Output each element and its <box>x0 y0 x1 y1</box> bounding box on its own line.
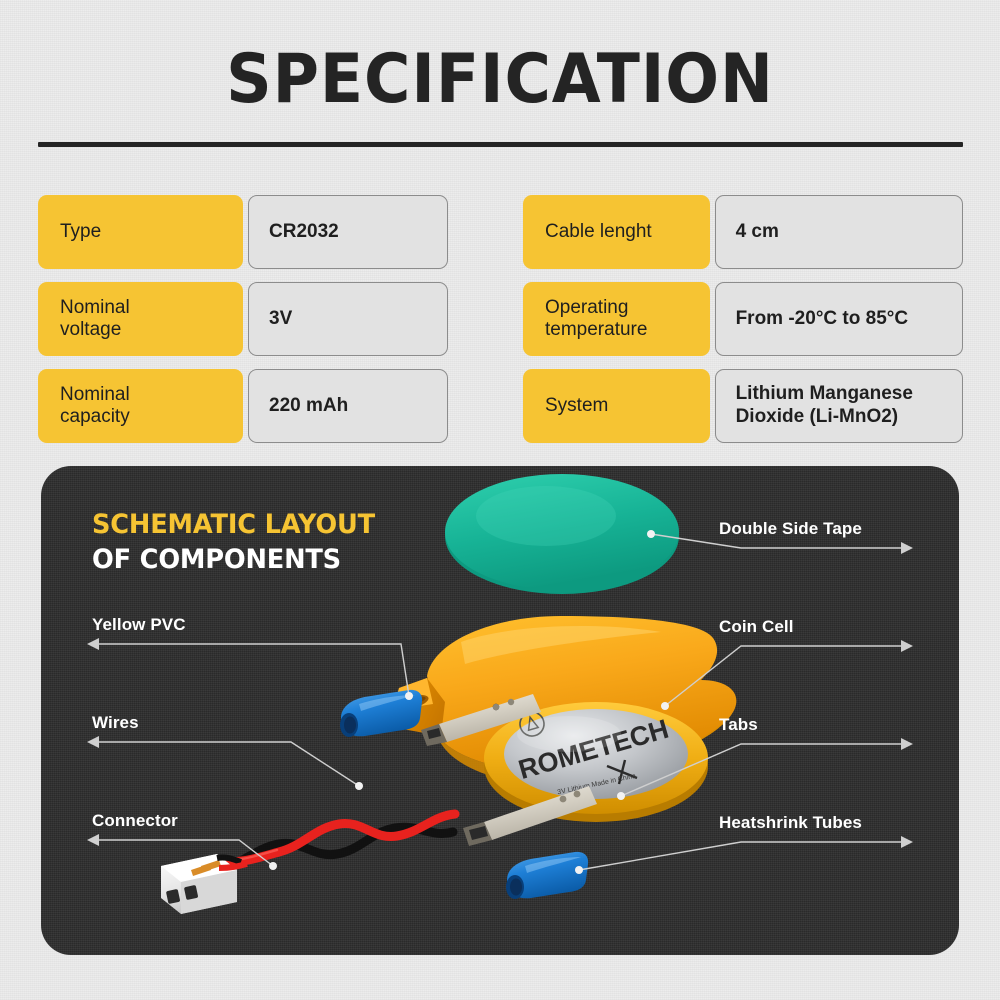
component-wires <box>219 814 455 869</box>
component-coin-cell: ROMETECH 3V Lithium Made in China <box>484 702 708 822</box>
spec-value-operating-temperature: From -20°C to 85°C <box>715 282 963 356</box>
spec-label-type: Type <box>38 195 243 269</box>
callout-label-connector: Connector <box>92 811 178 831</box>
specification-page: SPECIFICATION Type CR2032 Nominalvoltage… <box>0 0 1000 1000</box>
component-connector <box>161 854 247 914</box>
table-row: Nominalcapacity 220 mAh <box>38 369 478 443</box>
component-yellow-pvc <box>393 616 736 784</box>
spec-value-system: Lithium ManganeseDioxide (Li-MnO2) <box>715 369 963 443</box>
spec-value-cable-length: 4 cm <box>715 195 963 269</box>
table-row: Cable lenght 4 cm <box>523 195 963 269</box>
spec-label-cable-length: Cable lenght <box>523 195 710 269</box>
callout-label-coin-cell: Coin Cell <box>719 617 794 637</box>
spec-value-type: CR2032 <box>248 195 448 269</box>
title-divider <box>38 142 963 147</box>
component-heatshrink-upper <box>340 690 422 737</box>
spec-column-right: Cable lenght 4 cm Operatingtemperature F… <box>523 195 963 443</box>
spec-column-left: Type CR2032 Nominalvoltage 3V Nominalcap… <box>38 195 478 443</box>
spec-label-nominal-capacity: Nominalcapacity <box>38 369 243 443</box>
coin-cell-brand-text: ROMETECH <box>515 714 672 785</box>
callout-label-double-side-tape: Double Side Tape <box>719 519 862 539</box>
table-row: Nominalvoltage 3V <box>38 282 478 356</box>
table-row: Type CR2032 <box>38 195 478 269</box>
coin-cell-logo-icon <box>517 709 547 739</box>
spec-label-nominal-voltage: Nominalvoltage <box>38 282 243 356</box>
spec-value-nominal-capacity: 220 mAh <box>248 369 448 443</box>
component-double-side-tape <box>445 474 679 594</box>
callout-label-heatshrink-tubes: Heatshrink Tubes <box>719 813 862 833</box>
spec-value-nominal-voltage: 3V <box>248 282 448 356</box>
component-tab-upper <box>421 694 541 746</box>
table-row: System Lithium ManganeseDioxide (Li-MnO2… <box>523 369 963 443</box>
schematic-heading: SCHEMATIC LAYOUT OF COMPONENTS <box>92 508 375 577</box>
spec-column-gap <box>500 195 501 443</box>
callout-label-wires: Wires <box>92 713 139 733</box>
callout-label-yellow-pvc: Yellow PVC <box>92 615 186 635</box>
page-title: SPECIFICATION <box>35 46 965 114</box>
callout-label-tabs: Tabs <box>719 715 758 735</box>
table-row: Operatingtemperature From -20°C to 85°C <box>523 282 963 356</box>
polarity-plus-icon <box>607 760 637 784</box>
schematic-heading-line-2: OF COMPONENTS <box>92 543 375 578</box>
schematic-heading-line-1: SCHEMATIC LAYOUT <box>92 508 375 543</box>
coin-cell-rim-text: 3V Lithium Made in China <box>557 773 637 797</box>
specification-table: Type CR2032 Nominalvoltage 3V Nominalcap… <box>38 195 963 443</box>
component-tab-lower <box>463 786 597 846</box>
spec-label-operating-temperature: Operatingtemperature <box>523 282 710 356</box>
component-heatshrink-lower <box>506 852 588 899</box>
spec-label-system: System <box>523 369 710 443</box>
schematic-panel: SCHEMATIC LAYOUT OF COMPONENTS <box>41 466 959 955</box>
